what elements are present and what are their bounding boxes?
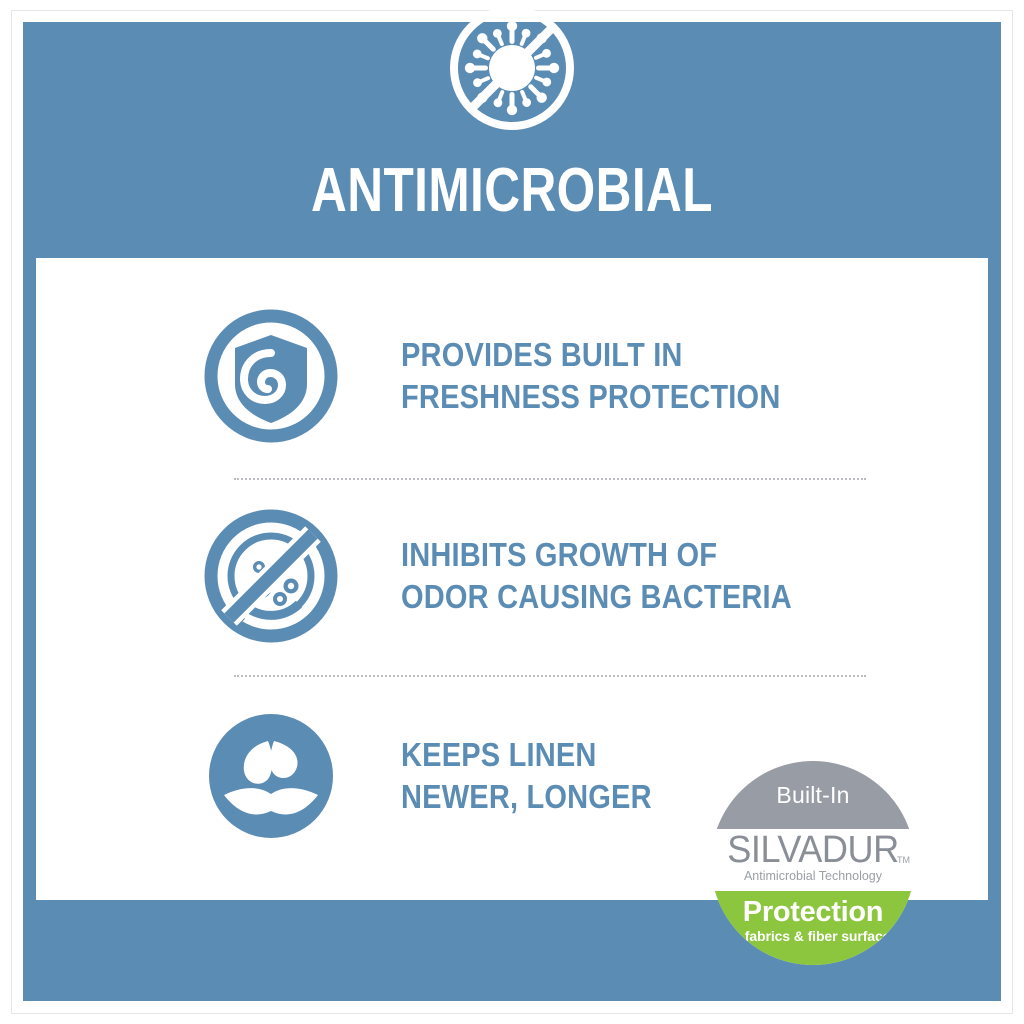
page-title: ANTIMICROBIAL bbox=[102, 160, 921, 222]
trademark-icon: TM bbox=[897, 856, 910, 865]
infographic-canvas: ANTIMICROBIAL PROVIDES BUILT IN FRESHNES… bbox=[0, 0, 1024, 1024]
feature-text: KEEPS LINEN NEWER, LONGER bbox=[401, 734, 652, 818]
silvadur-top-band: Built-In bbox=[711, 761, 915, 829]
feature-text: PROVIDES BUILT IN FRESHNESS PROTECTION bbox=[401, 334, 780, 418]
row-divider bbox=[234, 478, 866, 480]
feature-row: INHIBITS GROWTH OF ODOR CAUSING BACTERIA bbox=[36, 496, 988, 656]
shield-swirl-icon bbox=[196, 301, 346, 451]
silvadur-protection-sub: to fabrics & fiber surfaces bbox=[711, 929, 915, 944]
feature-row: PROVIDES BUILT IN FRESHNESS PROTECTION bbox=[36, 296, 988, 456]
no-bacteria-petri-dish-icon bbox=[196, 501, 346, 651]
row-divider bbox=[234, 675, 866, 677]
silvadur-wordmark: SILVADUR bbox=[716, 831, 910, 869]
silvadur-mid-band: SILVADUR TM Antimicrobial Technology bbox=[711, 829, 915, 891]
silvadur-protection-label: Protection bbox=[711, 897, 915, 927]
feature-line-1: PROVIDES BUILT IN bbox=[401, 334, 780, 376]
feature-line-2: ODOR CAUSING BACTERIA bbox=[401, 576, 792, 618]
no-virus-icon bbox=[448, 4, 576, 132]
feature-line-2: FRESHNESS PROTECTION bbox=[401, 376, 780, 418]
feature-line-1: INHIBITS GROWTH OF bbox=[401, 534, 792, 576]
silvadur-bottom-band: Protection to fabrics & fiber surfaces bbox=[711, 891, 915, 965]
feature-line-1: KEEPS LINEN bbox=[401, 734, 652, 776]
feature-line-2: NEWER, LONGER bbox=[401, 776, 652, 818]
silvadur-tagline: Antimicrobial Technology bbox=[711, 870, 915, 883]
silvadur-built-in-label: Built-In bbox=[776, 784, 849, 807]
leaf-sprout-icon bbox=[196, 701, 346, 851]
feature-text: INHIBITS GROWTH OF ODOR CAUSING BACTERIA bbox=[401, 534, 792, 618]
silvadur-badge: Built-In SILVADUR TM Antimicrobial Techn… bbox=[711, 761, 915, 965]
